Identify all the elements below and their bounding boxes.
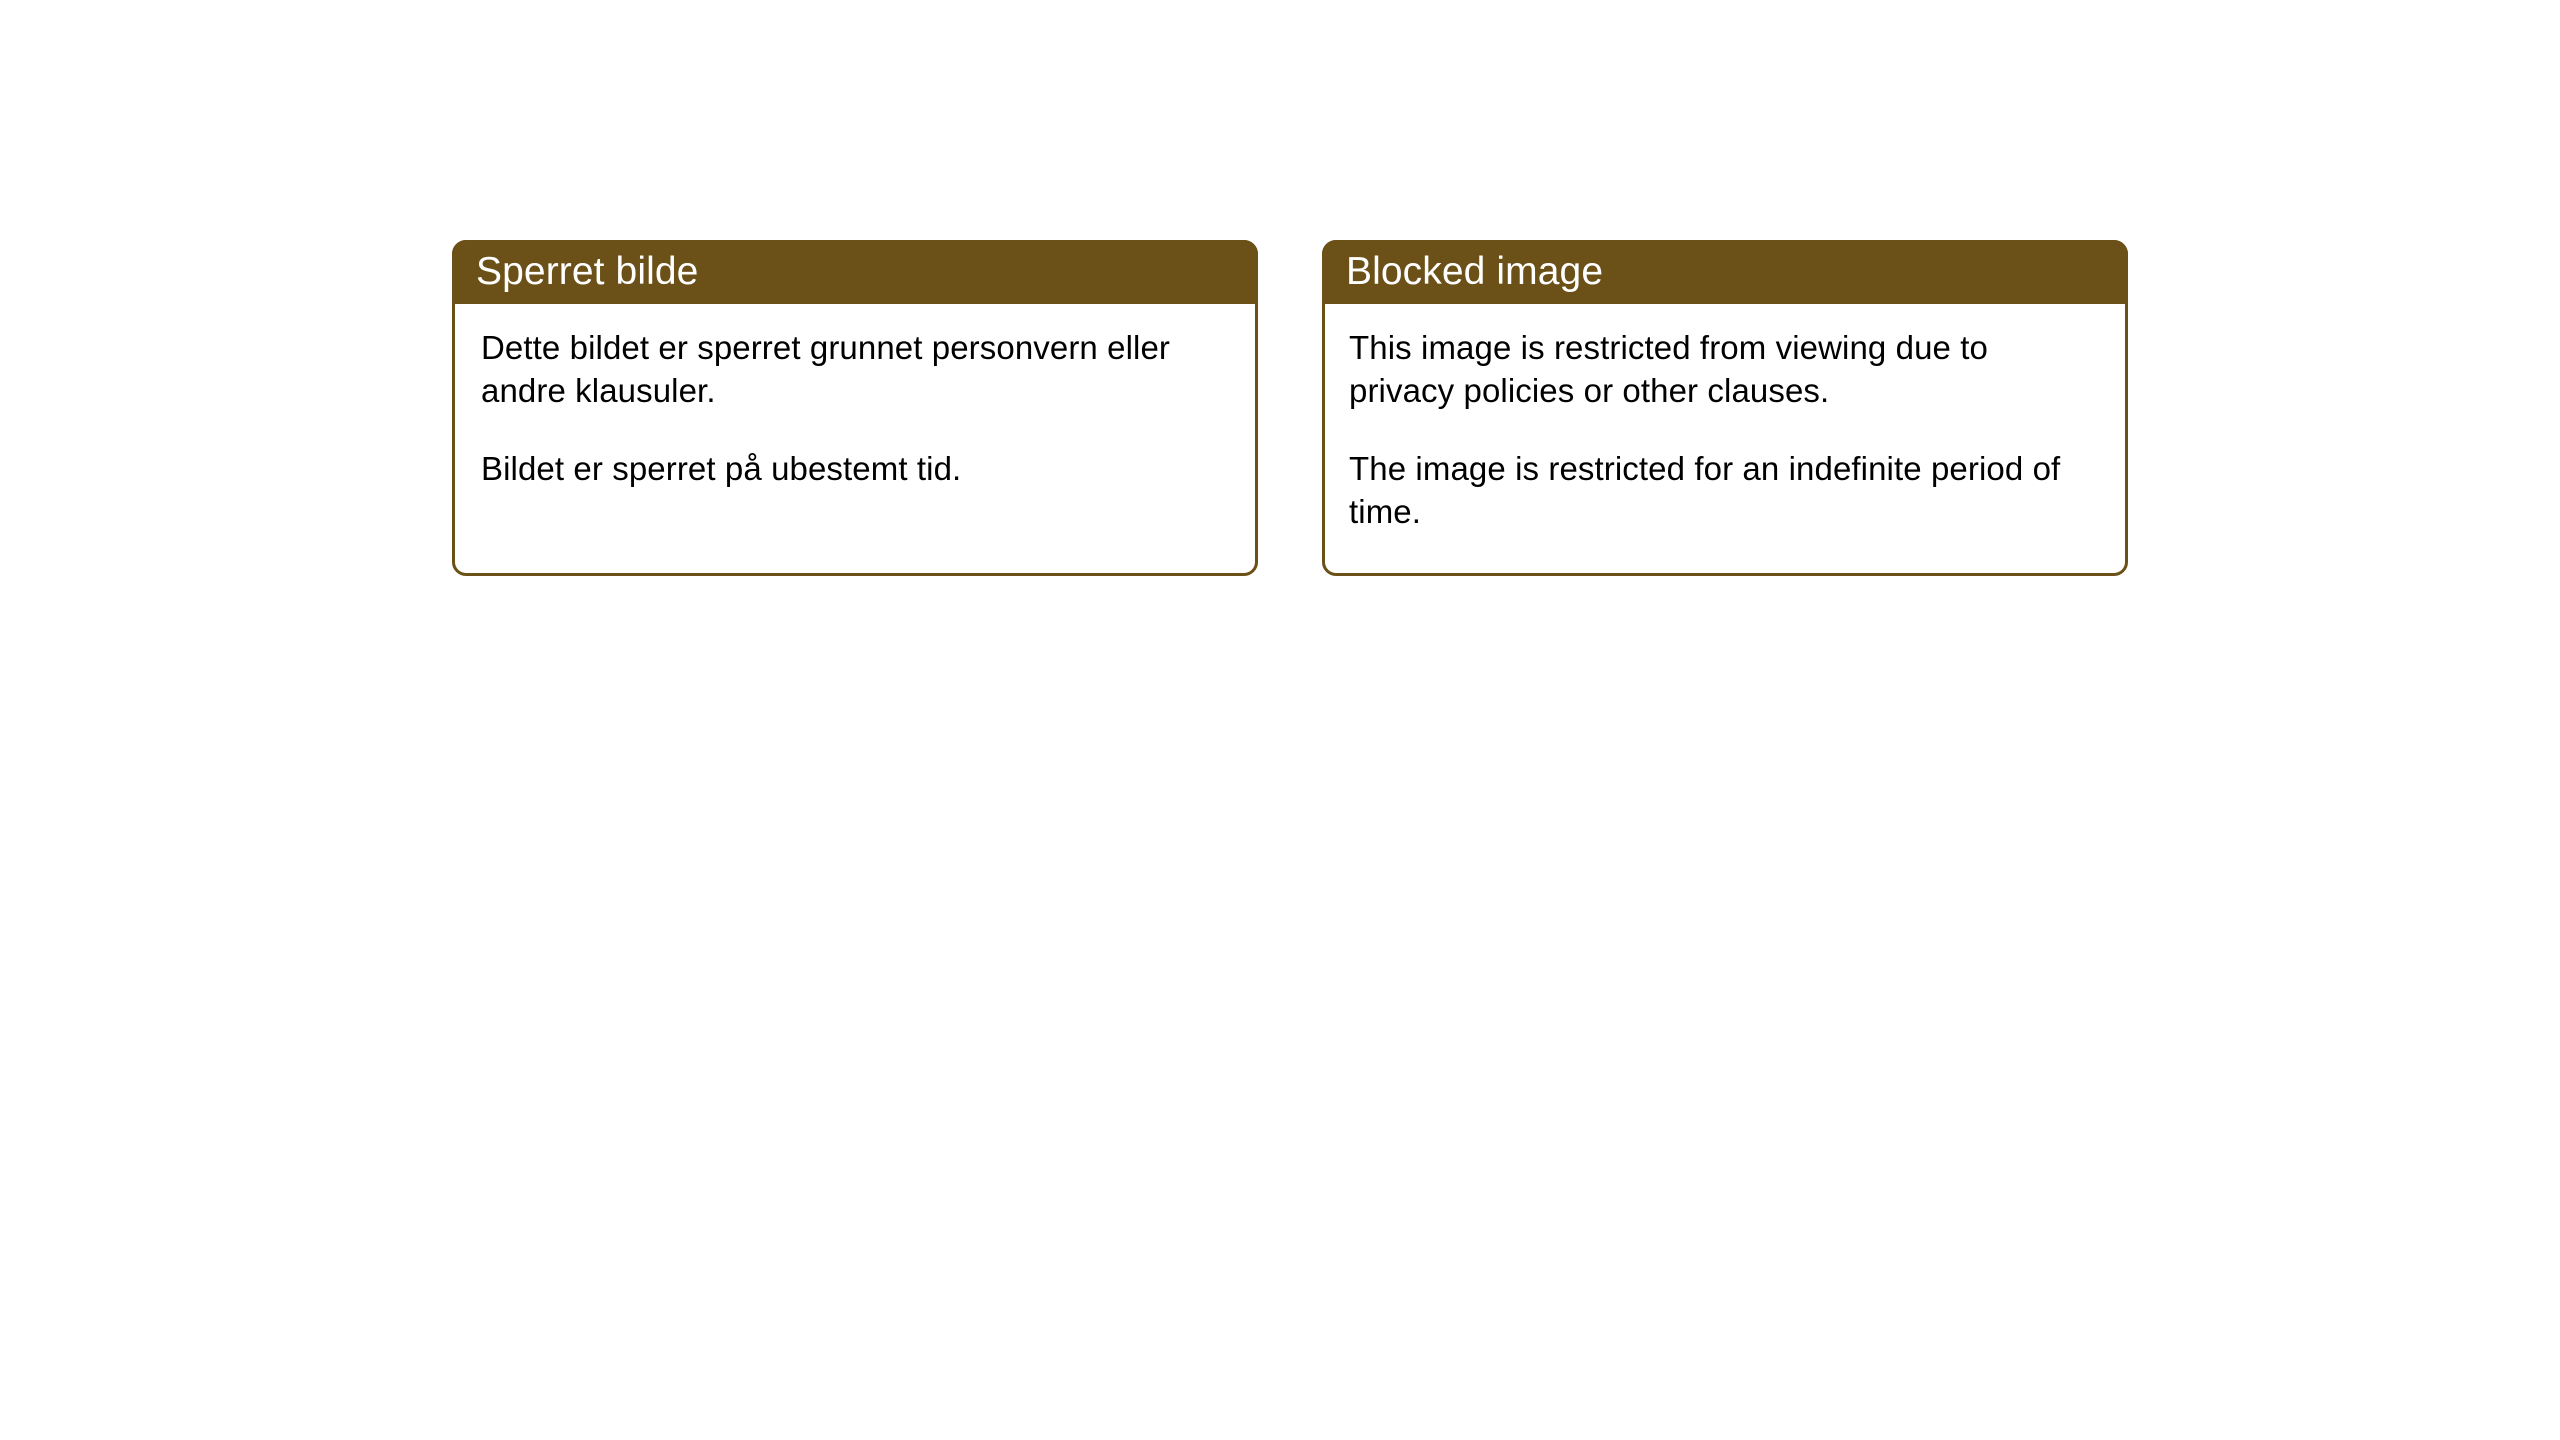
- card-header-norwegian: Sperret bilde: [452, 240, 1258, 304]
- card-body-english: This image is restricted from viewing du…: [1325, 304, 2125, 533]
- blocked-image-notice-group: Sperret bilde Dette bildet er sperret gr…: [452, 240, 2128, 576]
- card-header-english: Blocked image: [1322, 240, 2128, 304]
- card-title-english: Blocked image: [1346, 250, 1603, 294]
- blocked-image-card-norwegian: Sperret bilde Dette bildet er sperret gr…: [452, 240, 1258, 576]
- card-title-norwegian: Sperret bilde: [476, 250, 698, 294]
- card-paragraph-duration-english: The image is restricted for an indefinit…: [1349, 447, 2101, 533]
- blocked-image-card-english: Blocked image This image is restricted f…: [1322, 240, 2128, 576]
- card-body-norwegian: Dette bildet er sperret grunnet personve…: [455, 304, 1255, 490]
- card-paragraph-duration-norwegian: Bildet er sperret på ubestemt tid.: [481, 447, 1231, 490]
- page-root: Sperret bilde Dette bildet er sperret gr…: [0, 0, 2560, 1440]
- card-paragraph-privacy-norwegian: Dette bildet er sperret grunnet personve…: [481, 326, 1231, 412]
- card-paragraph-privacy-english: This image is restricted from viewing du…: [1349, 326, 2101, 412]
